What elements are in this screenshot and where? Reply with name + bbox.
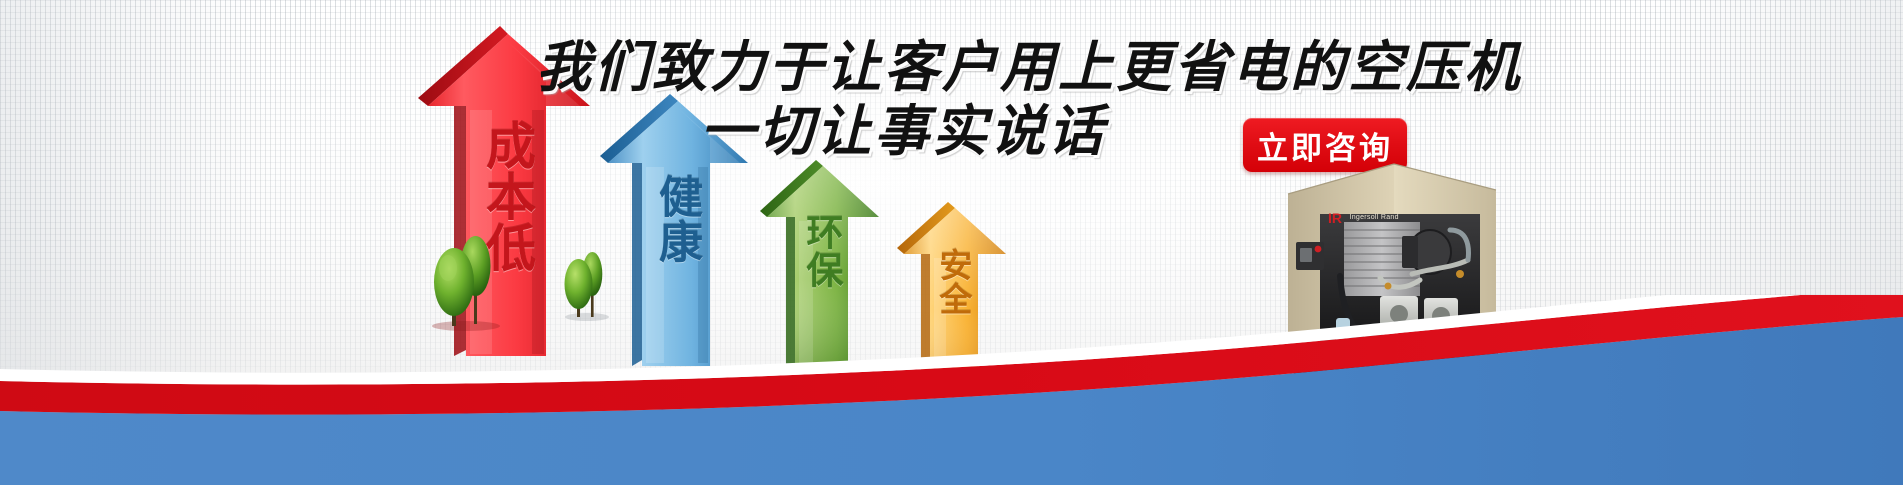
- ingersoll-rand-mark: IR: [1328, 211, 1342, 225]
- headline-line-2: 一切让事实说话: [700, 86, 1106, 166]
- arrow-health-label: 健康: [653, 174, 698, 264]
- bottom-wave-ribbon: [0, 295, 1903, 485]
- arrow-eco-label: 环保: [802, 213, 840, 289]
- ingersoll-rand-logo: IR Ingersoll Rand: [1328, 209, 1399, 227]
- ingersoll-rand-wordmark: Ingersoll Rand: [1349, 214, 1398, 221]
- promo-banner: 成本低: [0, 0, 1903, 485]
